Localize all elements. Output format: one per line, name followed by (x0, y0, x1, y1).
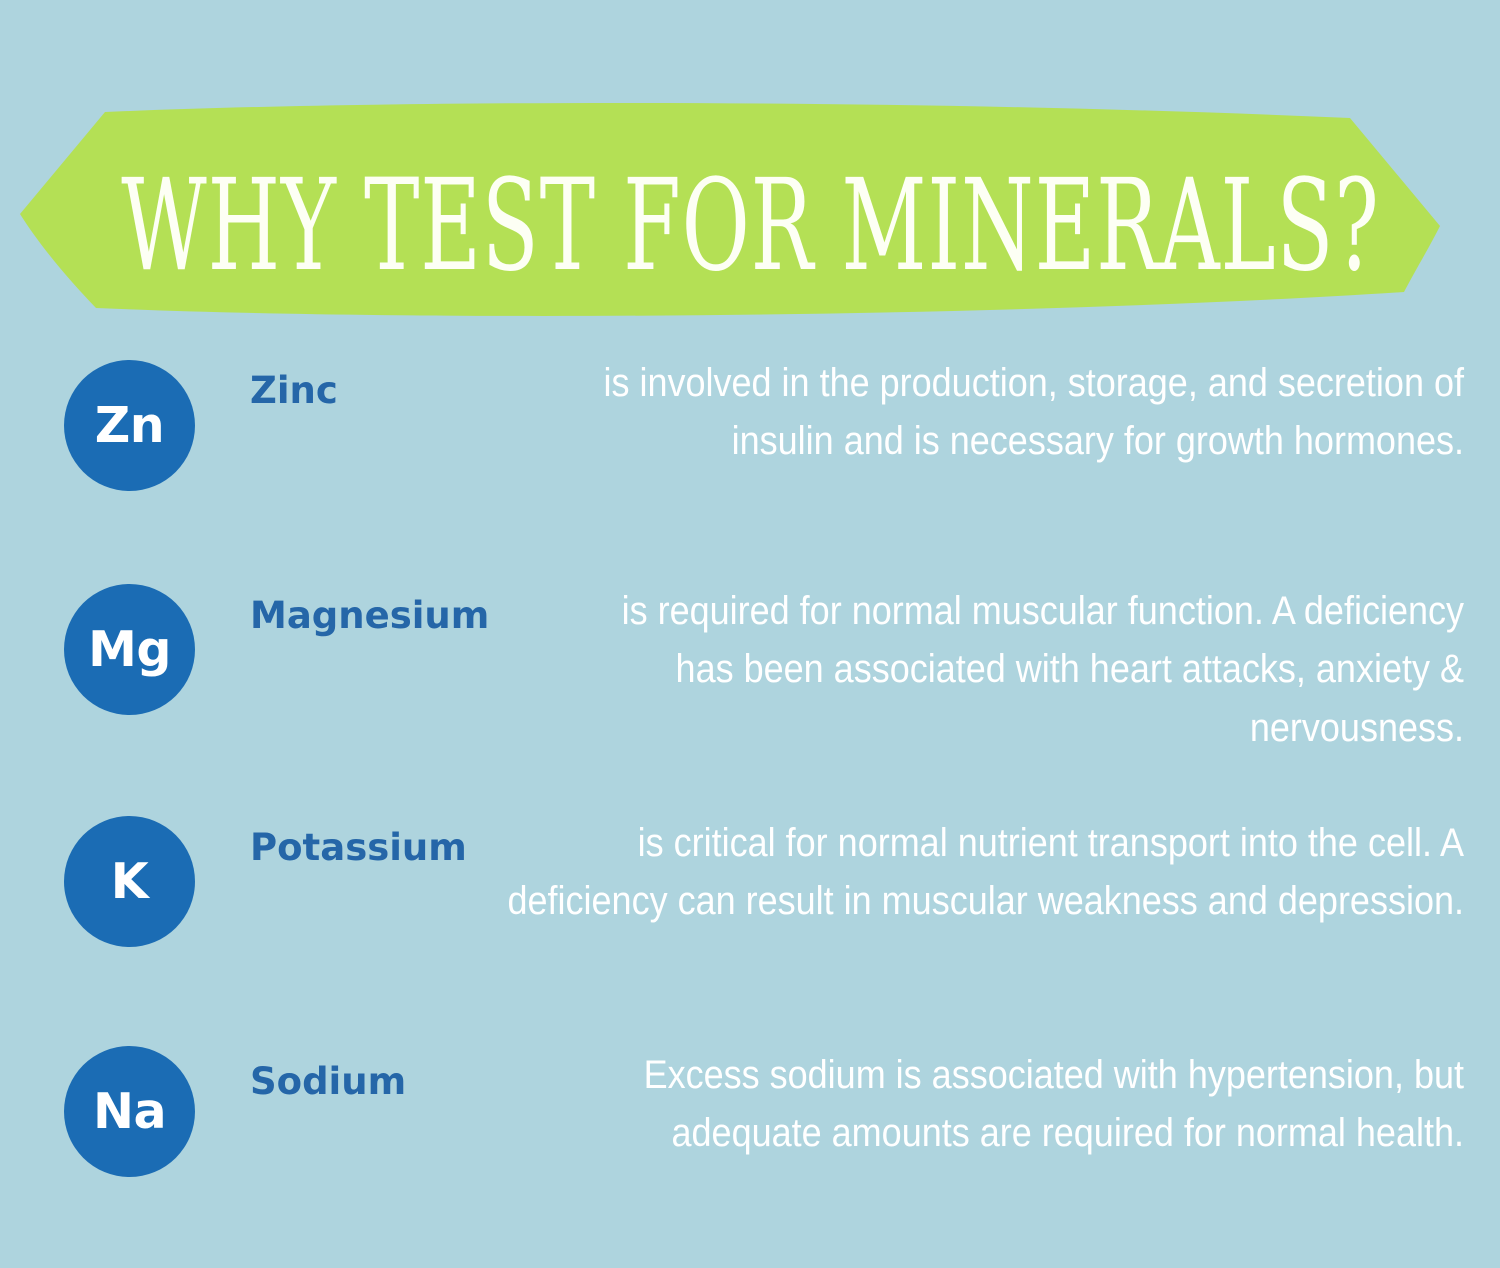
element-badge-na: Na (64, 1046, 195, 1177)
mineral-name-potassium: Potassium (250, 828, 467, 869)
mineral-row-zinc: Zn Zinc is involved in the production, s… (0, 348, 1500, 578)
mineral-list: Zn Zinc is involved in the production, s… (0, 348, 1500, 1268)
mineral-row-sodium: Na Sodium Excess sodium is associated wi… (0, 1038, 1500, 1268)
mineral-description-zinc: is involved in the production, storage, … (497, 354, 1465, 471)
header-banner: WHY TEST FOR MINERALS? (0, 96, 1500, 336)
page-title-text: WHY TEST FOR MINERALS? (121, 162, 1379, 289)
element-symbol: Zn (95, 401, 164, 450)
element-symbol: K (111, 857, 148, 906)
mineral-description-sodium: Excess sodium is associated with hyperte… (492, 1046, 1464, 1163)
mineral-row-magnesium: Mg Magnesium is required for normal musc… (0, 578, 1500, 808)
page-title: WHY TEST FOR MINERALS? (0, 96, 1500, 336)
element-symbol: Mg (88, 625, 171, 674)
element-badge-mg: Mg (64, 584, 195, 715)
element-badge-k: K (64, 816, 195, 947)
mineral-row-potassium: K Potassium is critical for normal nutri… (0, 808, 1500, 1038)
mineral-description-magnesium: is required for normal muscular function… (564, 582, 1464, 757)
mineral-description-potassium: is critical for normal nutrient transpor… (492, 814, 1464, 931)
mineral-name-zinc: Zinc (250, 371, 338, 412)
mineral-name-sodium: Sodium (250, 1062, 406, 1103)
element-badge-zn: Zn (64, 360, 195, 491)
mineral-name-magnesium: Magnesium (250, 596, 489, 637)
element-symbol: Na (93, 1087, 166, 1136)
